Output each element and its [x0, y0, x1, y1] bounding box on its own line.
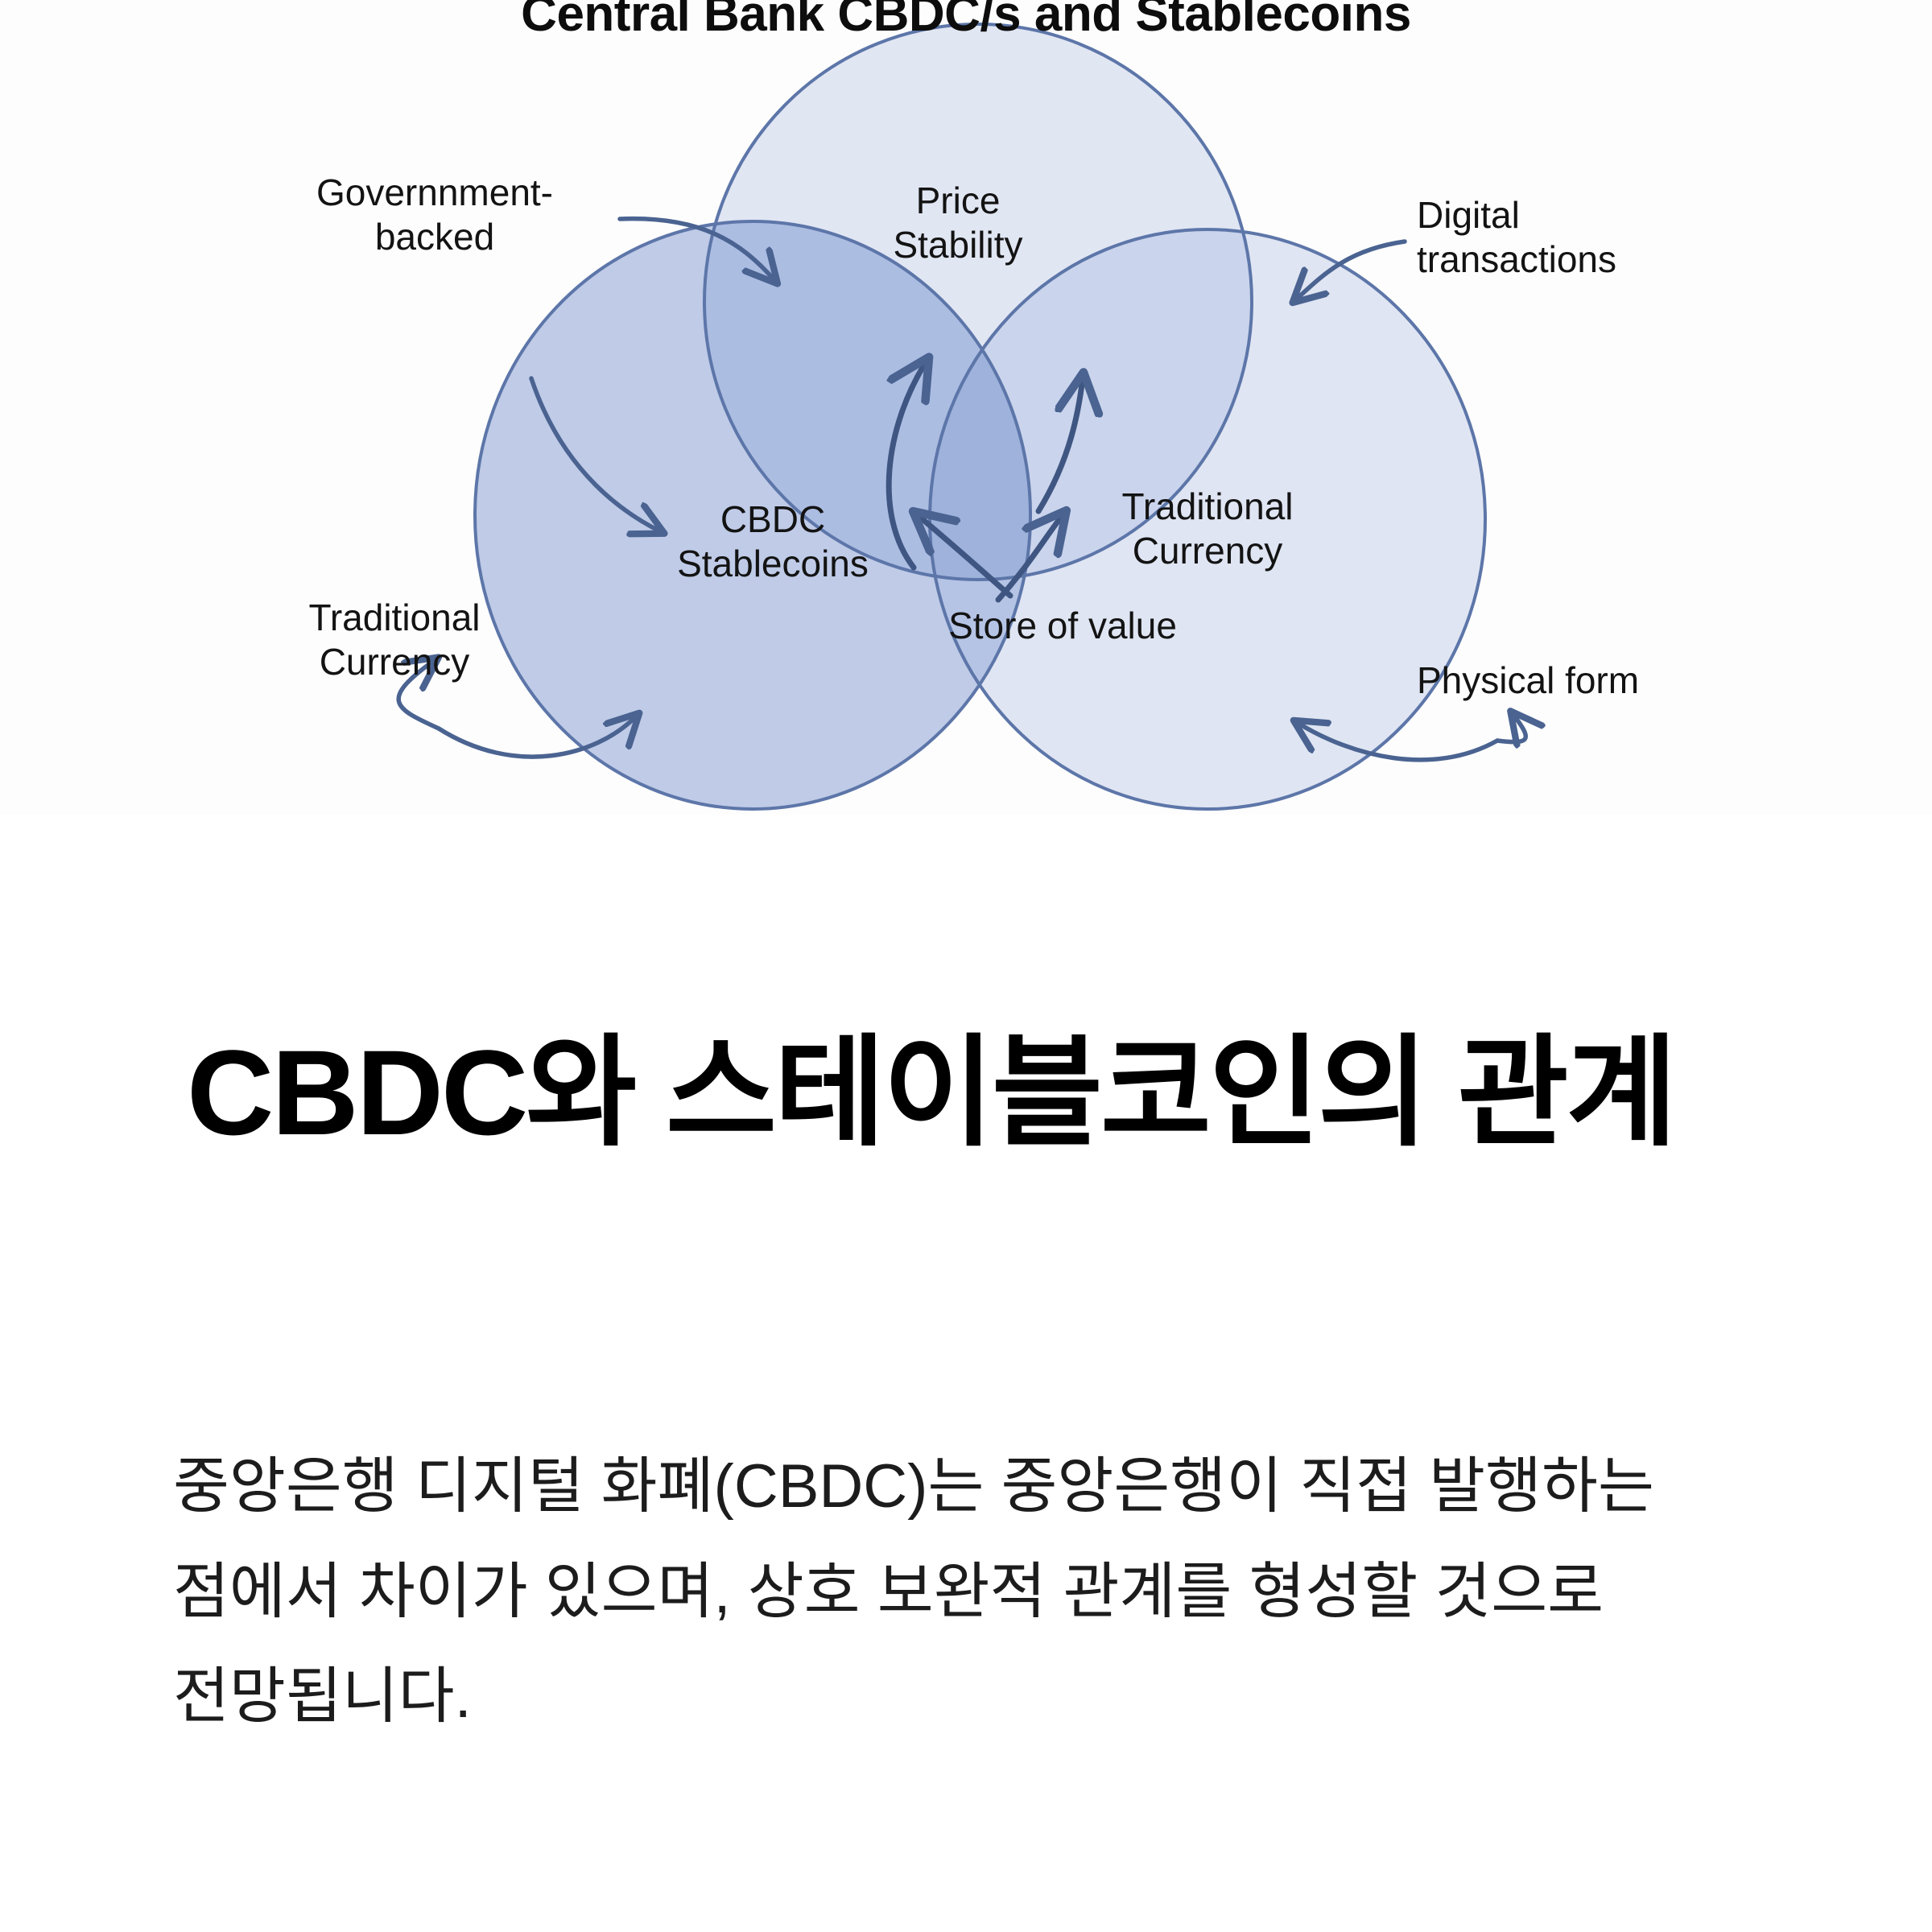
- callout-label-digital-transactions: Digital transactions: [1417, 193, 1755, 281]
- page-root: Central Bank CBDC/s and Stablecoins Gove…: [0, 0, 1932, 1932]
- set-label-price-stability: Price Stability: [805, 179, 1111, 266]
- callout-label-physical-form: Physical form: [1417, 658, 1755, 703]
- article-paragraph: 중앙은행 디지털 화폐(CBDC)는 중앙은행이 직접 발행하는 점에서 차이가…: [173, 1435, 1771, 1750]
- intersection-label-store-of-value: Store of value: [902, 604, 1224, 648]
- article-headline: CBDC와 스테이블코인의 관계: [187, 1022, 1716, 1162]
- figure-title: Central Bank CBDC/s and Stablecoins: [0, 0, 1932, 43]
- set-label-traditional-currency: Traditional Currency: [1038, 485, 1377, 572]
- callout-label-government-backed: Governnment- backed: [266, 171, 604, 258]
- arrow-physical-form-b: [1497, 715, 1525, 742]
- callout-label-traditional-currency: Traditional Currency: [233, 596, 555, 683]
- set-label-cbdc-stablecoins: CBDC Stablecoins: [612, 497, 934, 585]
- venn-diagram-figure: Central Bank CBDC/s and Stablecoins Gove…: [0, 0, 1932, 815]
